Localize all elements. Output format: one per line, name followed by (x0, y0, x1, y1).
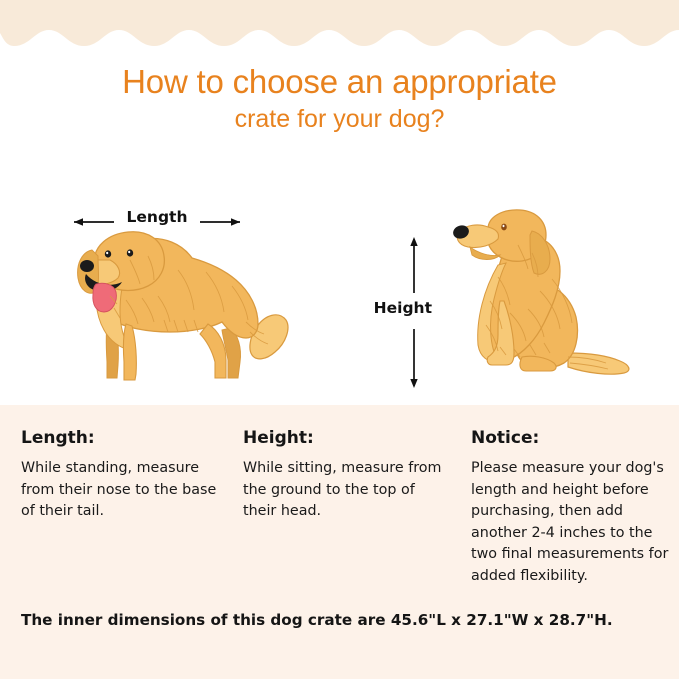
wave-shape-icon (0, 0, 679, 52)
details-column-notice: Notice: Please measure your dog's length… (460, 427, 679, 587)
page-title-line-1: How to choose an appropriate (0, 62, 679, 102)
details-columns: Length: While standing, measure from the… (0, 427, 679, 587)
inner-dimensions-statement: The inner dimensions of this dog crate a… (21, 609, 666, 631)
details-column-length-body: While standing, measure from their nose … (21, 458, 222, 523)
details-column-notice-body: Please measure your dog's length and hei… (471, 458, 671, 587)
sitting-golden-retriever-icon (440, 205, 640, 385)
details-column-height-body: While sitting, measure from the ground t… (243, 458, 450, 523)
details-column-length: Length: While standing, measure from the… (0, 427, 232, 523)
decorative-wave-band (0, 0, 679, 52)
details-panel: Length: While standing, measure from the… (0, 405, 679, 679)
details-column-notice-heading: Notice: (471, 427, 671, 449)
dog-crate-sizing-infographic: How to choose an appropriate crate for y… (0, 0, 679, 679)
details-column-length-heading: Length: (21, 427, 222, 449)
illustration-area: Length (0, 180, 679, 405)
details-column-height-heading: Height: (243, 427, 450, 449)
details-column-height: Height: While sitting, measure from the … (232, 427, 460, 523)
standing-golden-retriever-icon (60, 210, 290, 385)
page-title: How to choose an appropriate crate for y… (0, 62, 679, 136)
height-measure-label: Height (360, 297, 432, 319)
page-title-line-2: crate for your dog? (0, 102, 679, 136)
